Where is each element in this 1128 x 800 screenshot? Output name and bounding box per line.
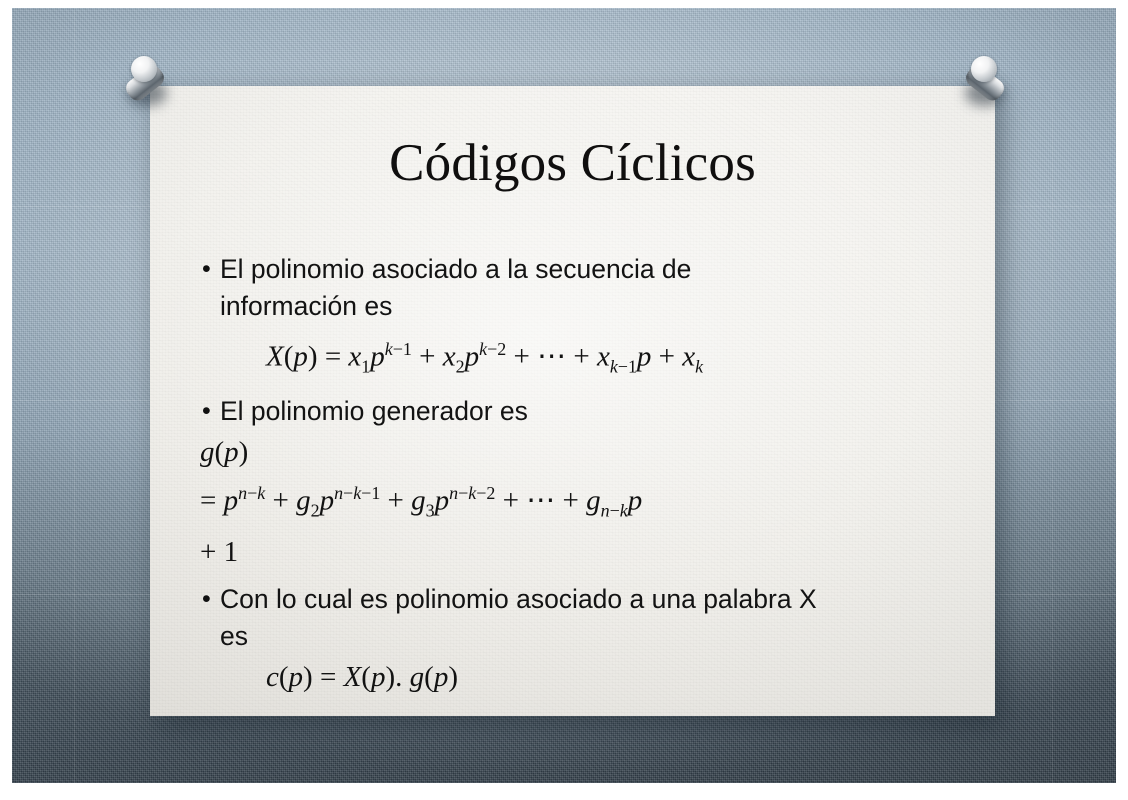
list-item: • El polinomio asociado a la secuencia d… bbox=[198, 251, 973, 325]
bullet-marker-icon: • bbox=[198, 581, 220, 618]
bullet-text-3: Con lo cual es polinomio asociado a una … bbox=[220, 581, 830, 655]
formula-generator-tail: + 1 bbox=[200, 532, 973, 573]
bullet-marker-icon: • bbox=[198, 393, 220, 430]
bullet-text-1: El polinomio asociado a la secuencia de … bbox=[220, 251, 830, 325]
slide-content: Códigos Cíclicos • El polinomio asociado… bbox=[150, 86, 995, 716]
list-item: • El polinomio generador es bbox=[198, 393, 973, 430]
bullet-marker-icon: • bbox=[198, 251, 220, 288]
formula-generator-lhs: g(p) bbox=[200, 432, 973, 473]
formula-generator-rhs: = pn−k + g2pn−k−1 + g3pn−k−2 + ⋯ + gn−kp bbox=[200, 473, 973, 531]
page-title: Códigos Cíclicos bbox=[150, 136, 995, 192]
bullet-text-2: El polinomio generador es bbox=[220, 393, 528, 430]
list-item: • Con lo cual es polinomio asociado a un… bbox=[198, 581, 973, 655]
body-content: • El polinomio asociado a la secuencia d… bbox=[198, 251, 973, 698]
formula-information-polynomial: X(p) = x1pk−1 + x2pk−2 + ⋯ + xk−1p + xk bbox=[266, 329, 973, 387]
formula-codeword-polynomial: c(p) = X(p). g(p) bbox=[266, 657, 973, 698]
slide-frame: Códigos Cíclicos • El polinomio asociado… bbox=[0, 0, 1128, 800]
paper-sheet: Códigos Cíclicos • El polinomio asociado… bbox=[150, 86, 995, 716]
